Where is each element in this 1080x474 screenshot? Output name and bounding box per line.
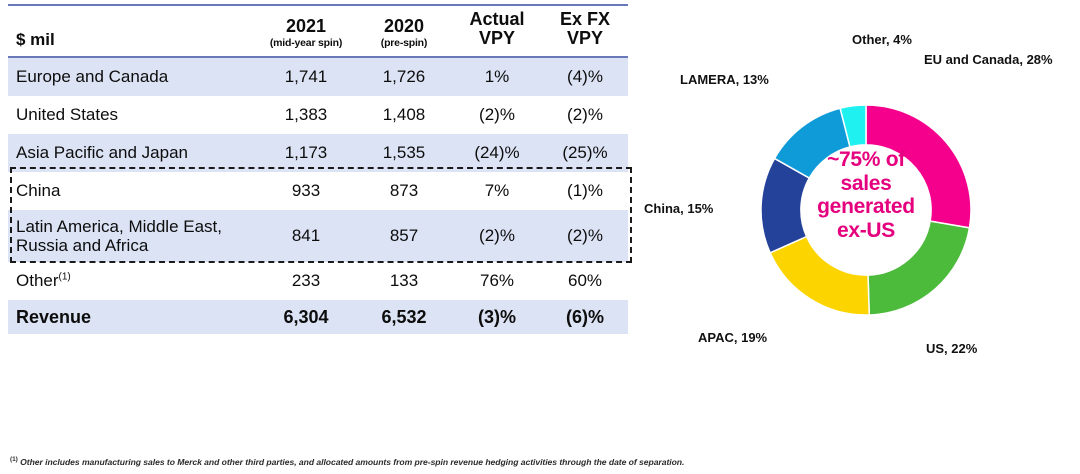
slice-label-other: Other, 4% [852,32,912,47]
table-row: Asia Pacific and Japan 1,173 1,535 (24)%… [8,134,628,172]
revenue-mix-donut-chart: ~75% of sales generated ex-US Other, 4% … [636,0,1080,440]
column-header-actual-vpy-line2: VPY [462,29,532,48]
column-header-unit: $ mil [8,6,256,56]
column-header-actual-vpy-line1: Actual [462,10,532,29]
row-2020: 857 [356,210,452,262]
column-header-exfx-vpy-line2: VPY [552,29,618,48]
row-label: China [8,172,256,210]
column-header-2020-note: (pre-spin) [366,38,442,49]
row-label: Latin America, Middle East, Russia and A… [8,210,256,262]
column-header-actual-vpy: Actual VPY [452,6,542,56]
row-label-text: Other [16,271,59,290]
row-2020: 873 [356,172,452,210]
row-label: Other(1) [8,262,256,300]
row-exfx-vpy: 60% [542,262,628,300]
total-exfx-vpy: (6)% [542,300,628,334]
table-body: Europe and Canada 1,741 1,726 1% (4)% Un… [8,58,628,334]
table-header: $ mil 2021 (mid-year spin) 2020 (pre-spi… [8,6,628,56]
column-header-2021-note: (mid-year spin) [266,38,346,49]
table-row: China 933 873 7% (1)% [8,172,628,210]
row-2020: 1,535 [356,134,452,172]
row-2021: 233 [256,262,356,300]
table-header-row: $ mil 2021 (mid-year spin) 2020 (pre-spi… [8,6,628,56]
revenue-by-region-body: Europe and Canada 1,741 1,726 1% (4)% Un… [8,58,628,334]
footnote: (1) Other includes manufacturing sales t… [10,456,1010,467]
table-row: Europe and Canada 1,741 1,726 1% (4)% [8,58,628,96]
footnote-marker: (1) [59,272,71,283]
row-2021: 1,741 [256,58,356,96]
row-actual-vpy: 7% [452,172,542,210]
row-actual-vpy: (2)% [452,210,542,262]
row-exfx-vpy: (2)% [542,210,628,262]
total-actual-vpy: (3)% [452,300,542,334]
row-exfx-vpy: (2)% [542,96,628,134]
row-actual-vpy: (2)% [452,96,542,134]
row-2021: 841 [256,210,356,262]
total-2020: 6,532 [356,300,452,334]
footnote-marker-text: (1) [10,456,18,463]
row-2020: 133 [356,262,452,300]
slice-label-china: China, 15% [644,201,713,216]
revenue-by-region-table: $ mil 2021 (mid-year spin) 2020 (pre-spi… [8,6,628,56]
row-exfx-vpy: (1)% [542,172,628,210]
row-2020: 1,726 [356,58,452,96]
row-2021: 1,383 [256,96,356,134]
row-actual-vpy: (24)% [452,134,542,172]
table-total-row: Revenue 6,304 6,532 (3)% (6)% [8,300,628,334]
row-actual-vpy: 1% [452,58,542,96]
slice-label-eu-and-canada: EU and Canada, 28% [924,52,1053,67]
footnote-text: Other includes manufacturing sales to Me… [18,457,685,467]
column-header-2021-year: 2021 [266,17,346,36]
row-actual-vpy: 76% [452,262,542,300]
column-header-2020: 2020 (pre-spin) [356,6,452,56]
column-header-exfx-vpy: Ex FX VPY [542,6,628,56]
donut-center-text: ~75% of sales generated ex-US [806,148,926,243]
column-header-2021: 2021 (mid-year spin) [256,6,356,56]
row-label: United States [8,96,256,134]
total-2021: 6,304 [256,300,356,334]
row-2020: 1,408 [356,96,452,134]
row-label: Europe and Canada [8,58,256,96]
row-label: Asia Pacific and Japan [8,134,256,172]
table-row: Latin America, Middle East, Russia and A… [8,210,628,262]
row-exfx-vpy: (25)% [542,134,628,172]
row-2021: 1,173 [256,134,356,172]
donut-slice-apac [770,237,869,315]
total-label: Revenue [8,300,256,334]
column-header-exfx-vpy-line1: Ex FX [552,10,618,29]
financial-table-panel: $ mil 2021 (mid-year spin) 2020 (pre-spi… [8,4,628,334]
table-row: Other(1) 233 133 76% 60% [8,262,628,300]
slice-label-lamera: LAMERA, 13% [680,72,769,87]
table-row: United States 1,383 1,408 (2)% (2)% [8,96,628,134]
row-exfx-vpy: (4)% [542,58,628,96]
row-2021: 933 [256,172,356,210]
slice-label-us: US, 22% [926,341,977,356]
column-header-2020-year: 2020 [366,17,442,36]
slice-label-apac: APAC, 19% [698,330,767,345]
